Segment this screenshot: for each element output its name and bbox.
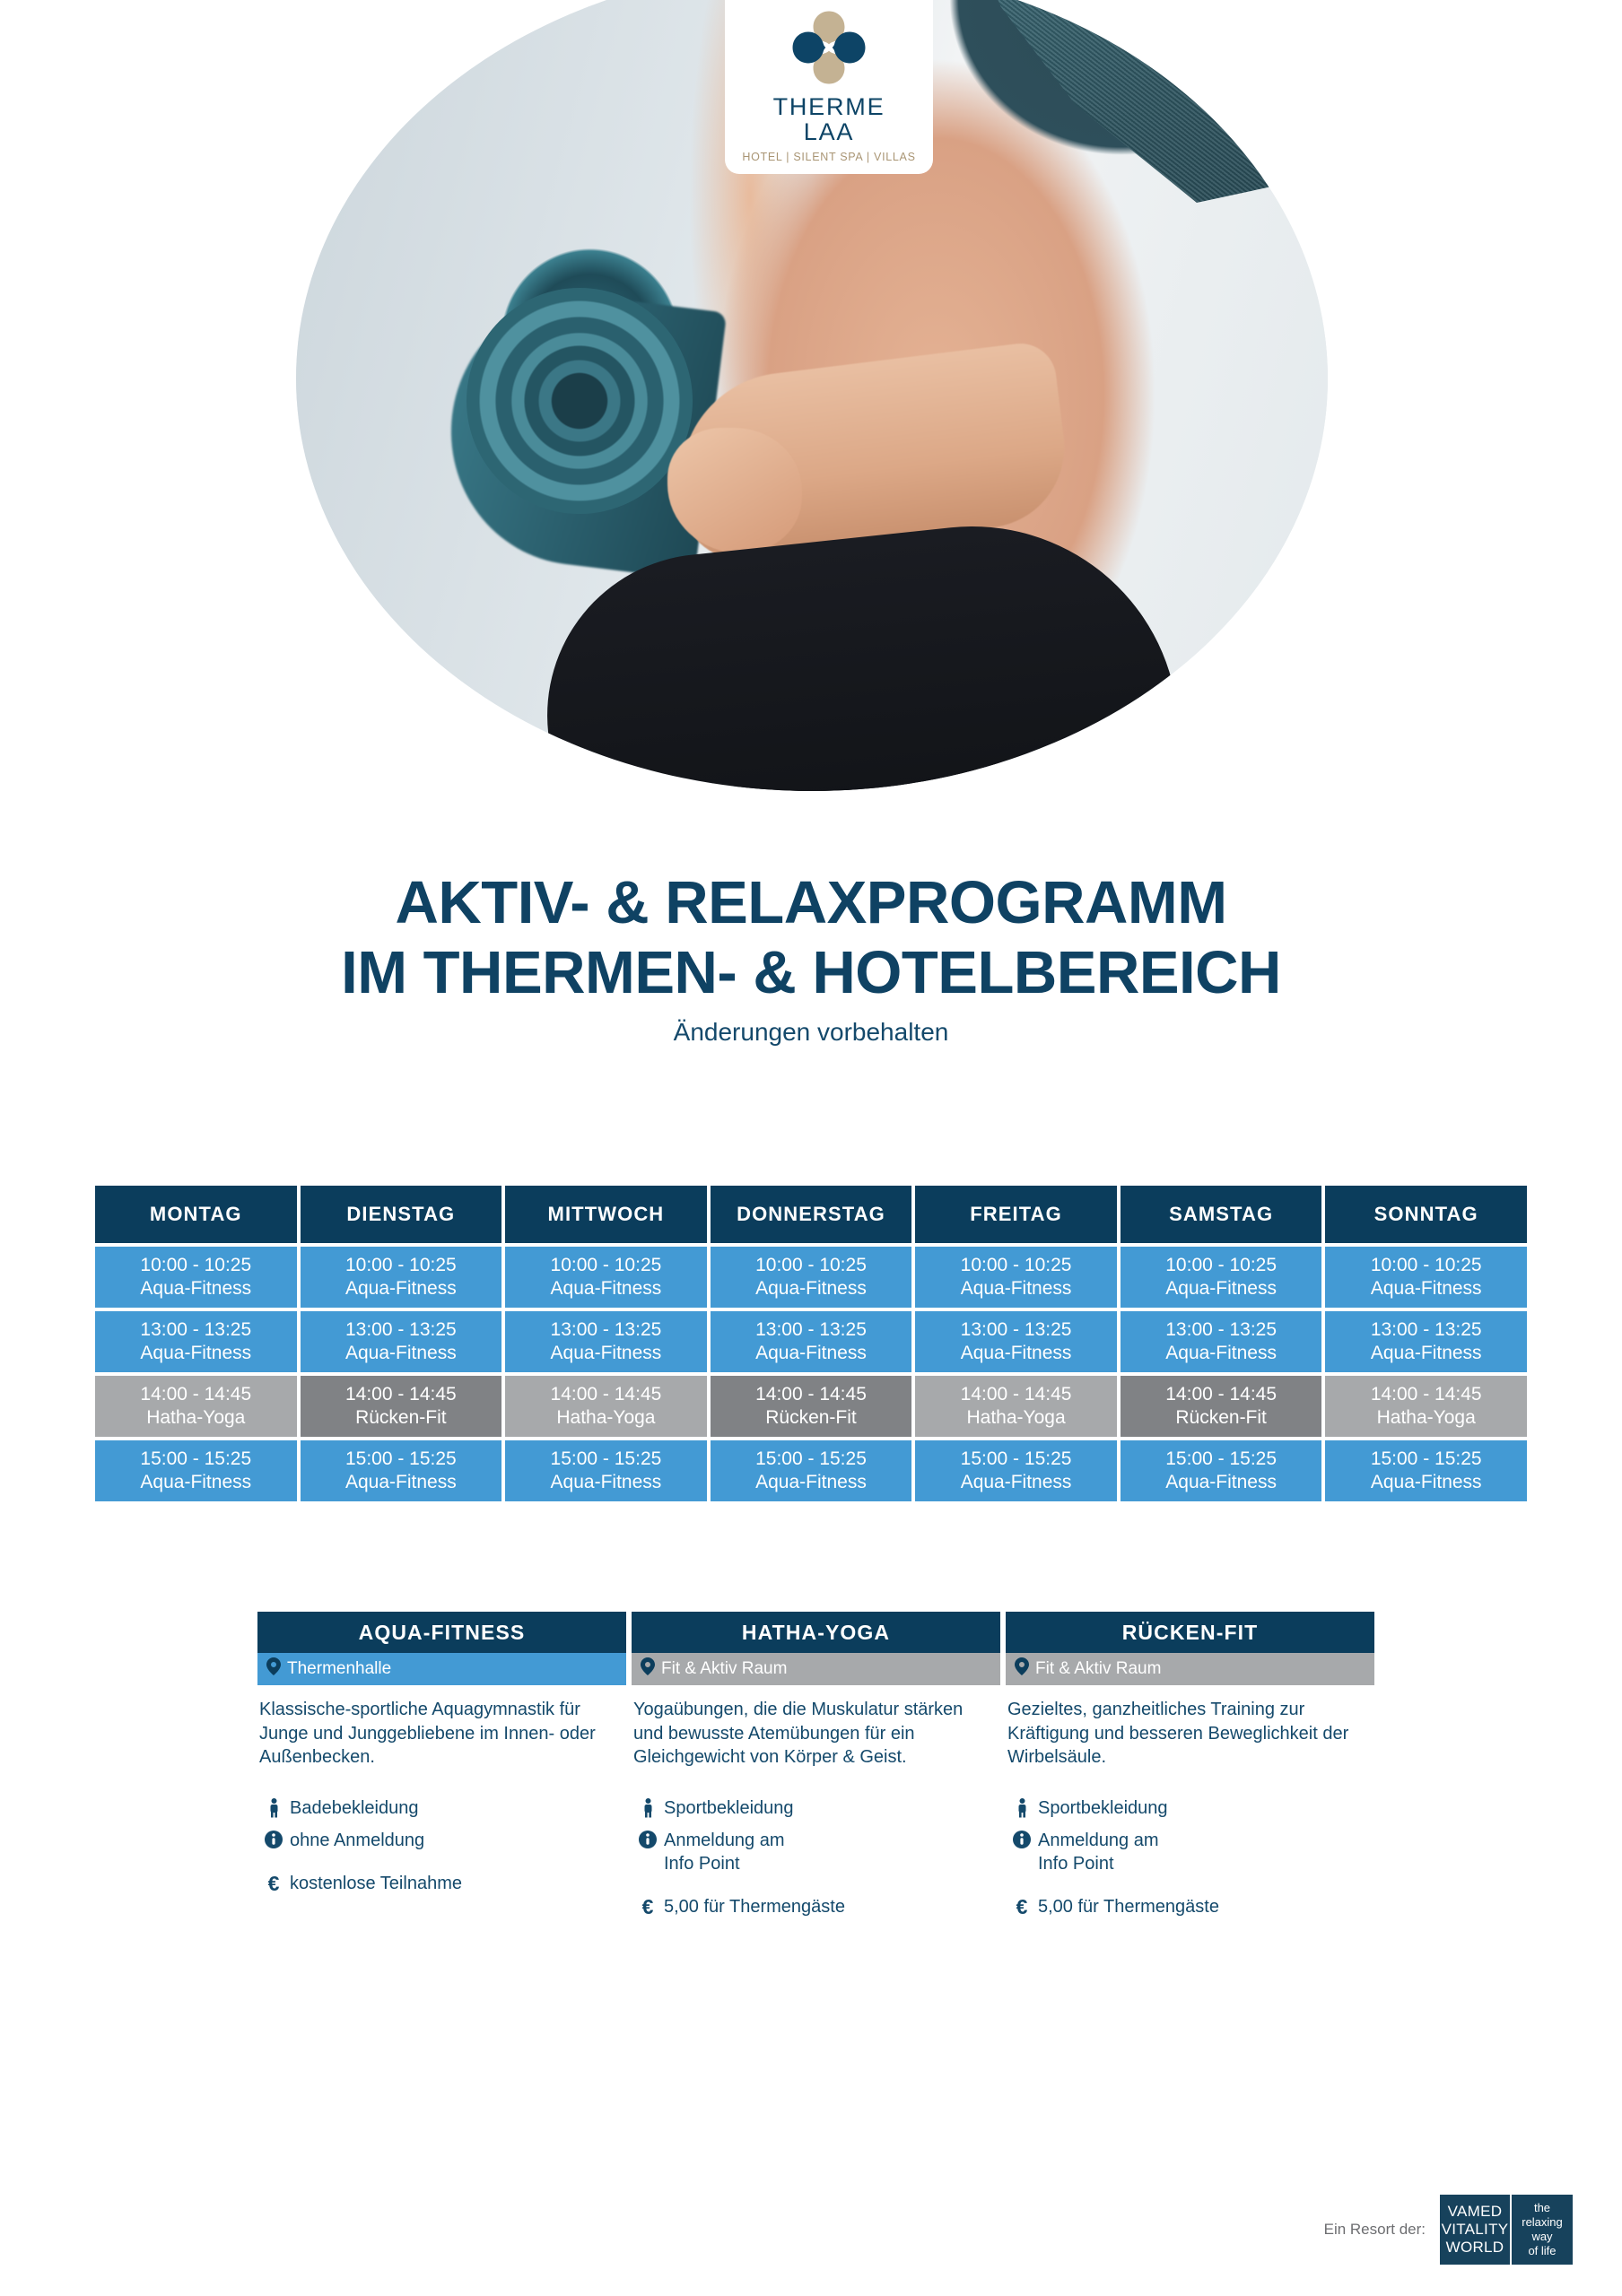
schedule-cell-activity: Aqua-Fitness xyxy=(1165,1342,1277,1365)
schedule-cell-activity: Rücken-Fit xyxy=(1175,1406,1267,1430)
person-clothing-icon xyxy=(1013,1796,1031,1818)
map-pin-icon xyxy=(266,1657,281,1681)
schedule-cell-time: 14:00 - 14:45 xyxy=(1371,1383,1482,1406)
schedule-cell: 13:00 - 13:25Aqua-Fitness xyxy=(1325,1311,1527,1372)
schedule-cell-activity: Hatha-Yoga xyxy=(1377,1406,1476,1430)
activity-card-location-label: Thermenhalle xyxy=(287,1659,391,1679)
activity-info-cards: AQUA-FITNESSThermenhalleKlassische-sport… xyxy=(257,1612,1374,1927)
schedule-cell-activity: Aqua-Fitness xyxy=(140,1277,251,1300)
schedule-cell: 15:00 - 15:25Aqua-Fitness xyxy=(1325,1440,1527,1501)
schedule-cell: 13:00 - 13:25Aqua-Fitness xyxy=(301,1311,502,1372)
activity-card-price: €5,00 für Thermengäste xyxy=(1007,1895,1365,1918)
schedule-cell-activity: Aqua-Fitness xyxy=(961,1342,1072,1365)
tagline-line-2: relaxing xyxy=(1522,2215,1563,2230)
footer-prefix-text: Ein Resort der: xyxy=(1324,2221,1426,2239)
logo-wordmark-line2: LAA xyxy=(804,119,854,144)
vamed-logo-box: VAMED VITALITY WORLD xyxy=(1440,2195,1510,2265)
schedule-cell-activity: Aqua-Fitness xyxy=(345,1277,457,1300)
activity-card-price-label: 5,00 für Thermengäste xyxy=(664,1895,845,1918)
tagline-line-3: way xyxy=(1531,2230,1552,2244)
schedule-cell-activity: Aqua-Fitness xyxy=(140,1342,251,1365)
schedule-cell: 15:00 - 15:25Aqua-Fitness xyxy=(95,1440,297,1501)
schedule-day-header: DIENSTAG xyxy=(301,1186,502,1243)
schedule-cell: 10:00 - 10:25Aqua-Fitness xyxy=(1121,1247,1322,1308)
schedule-cell-time: 13:00 - 13:25 xyxy=(1371,1318,1482,1342)
activity-card-feature: Sportbekleidung xyxy=(1007,1796,1365,1820)
activity-card-price-label: 5,00 für Thermengäste xyxy=(1038,1895,1219,1918)
schedule-cell-activity: Aqua-Fitness xyxy=(345,1342,457,1365)
schedule-cell-time: 13:00 - 13:25 xyxy=(140,1318,251,1342)
page-subtitle: Änderungen vorbehalten xyxy=(0,1018,1622,1047)
schedule-cell-activity: Aqua-Fitness xyxy=(961,1277,1072,1300)
activity-card-body: Gezieltes, ganzheitliches Training zur K… xyxy=(1006,1685,1374,1918)
euro-icon: € xyxy=(639,1895,657,1918)
activity-card: HATHA-YOGAFit & Aktiv RaumYogaübungen, d… xyxy=(632,1612,1000,1927)
activity-card-feature: Anmeldung am Info Point xyxy=(633,1829,991,1875)
schedule-cell: 15:00 - 15:25Aqua-Fitness xyxy=(1121,1440,1322,1501)
map-pin-icon xyxy=(1015,1657,1029,1681)
activity-card-title: HATHA-YOGA xyxy=(632,1612,1000,1653)
schedule-cell: 14:00 - 14:45Hatha-Yoga xyxy=(95,1376,297,1437)
schedule-cell: 10:00 - 10:25Aqua-Fitness xyxy=(915,1247,1117,1308)
schedule-cell: 15:00 - 15:25Aqua-Fitness xyxy=(301,1440,502,1501)
schedule-cell-time: 13:00 - 13:25 xyxy=(961,1318,1072,1342)
schedule-cell-activity: Rücken-Fit xyxy=(355,1406,447,1430)
activity-card-body: Yogaübungen, die die Muskulatur stärken … xyxy=(632,1685,1000,1918)
person-clothing-icon xyxy=(265,1796,283,1818)
schedule-cell: 13:00 - 13:25Aqua-Fitness xyxy=(95,1311,297,1372)
schedule-cell: 10:00 - 10:25Aqua-Fitness xyxy=(95,1247,297,1308)
footer: Ein Resort der: VAMED VITALITY WORLD the… xyxy=(1324,2195,1573,2265)
activity-card-price: €kostenlose Teilnahme xyxy=(259,1872,617,1895)
activity-card-location-label: Fit & Aktiv Raum xyxy=(661,1659,787,1679)
schedule-cell-activity: Aqua-Fitness xyxy=(1371,1342,1482,1365)
activity-card-location: Fit & Aktiv Raum xyxy=(1006,1653,1374,1685)
activity-card-title: AQUA-FITNESS xyxy=(257,1612,626,1653)
schedule-cell-activity: Aqua-Fitness xyxy=(1371,1277,1482,1300)
schedule-day-header: SONNTAG xyxy=(1325,1186,1527,1243)
activity-card-body: Klassische-sportliche Aquagymnastik für … xyxy=(257,1685,626,1895)
schedule-cell: 14:00 - 14:45Rücken-Fit xyxy=(711,1376,912,1437)
schedule-day-header: FREITAG xyxy=(915,1186,1117,1243)
vamed-line-2: VITALITY xyxy=(1442,2221,1509,2239)
schedule-day-header: SAMSTAG xyxy=(1121,1186,1322,1243)
schedule-cell-time: 14:00 - 14:45 xyxy=(961,1383,1072,1406)
info-icon xyxy=(265,1829,283,1848)
schedule-cell: 13:00 - 13:25Aqua-Fitness xyxy=(505,1311,707,1372)
activity-card-feature: ohne Anmeldung xyxy=(259,1829,617,1852)
activity-card-description: Klassische-sportliche Aquagymnastik für … xyxy=(259,1698,609,1770)
schedule-cell-time: 15:00 - 15:25 xyxy=(755,1448,867,1471)
schedule-cell-activity: Aqua-Fitness xyxy=(1371,1471,1482,1494)
yoga-mat-roll xyxy=(467,288,693,514)
schedule-cell-time: 10:00 - 10:25 xyxy=(1371,1254,1482,1277)
schedule-cell-time: 14:00 - 14:45 xyxy=(140,1383,251,1406)
schedule-cell-time: 13:00 - 13:25 xyxy=(755,1318,867,1342)
schedule-cell-time: 10:00 - 10:25 xyxy=(1165,1254,1277,1277)
schedule-cell-time: 10:00 - 10:25 xyxy=(345,1254,457,1277)
schedule-cell: 13:00 - 13:25Aqua-Fitness xyxy=(711,1311,912,1372)
vamed-line-1: VAMED xyxy=(1448,2203,1503,2221)
schedule-cell-activity: Rücken-Fit xyxy=(765,1406,857,1430)
tagline-line-1: the xyxy=(1534,2201,1550,2215)
therme-laa-clover-logo-icon xyxy=(788,6,870,89)
info-icon xyxy=(1013,1829,1031,1848)
activity-card: AQUA-FITNESSThermenhalleKlassische-sport… xyxy=(257,1612,626,1927)
activity-card-feature-label: Anmeldung am Info Point xyxy=(1038,1829,1159,1875)
schedule-cell-activity: Aqua-Fitness xyxy=(551,1277,662,1300)
activity-card-price-label: kostenlose Teilnahme xyxy=(290,1872,462,1895)
schedule-cell-activity: Hatha-Yoga xyxy=(556,1406,655,1430)
schedule-cell-activity: Aqua-Fitness xyxy=(345,1471,457,1494)
schedule-cell-time: 10:00 - 10:25 xyxy=(755,1254,867,1277)
schedule-cell-activity: Aqua-Fitness xyxy=(140,1471,251,1494)
schedule-cell: 10:00 - 10:25Aqua-Fitness xyxy=(301,1247,502,1308)
logo-subline: HOTEL | SILENT SPA | VILLAS xyxy=(742,151,915,163)
activity-card-feature: Badebekleidung xyxy=(259,1796,617,1820)
schedule-cell-time: 15:00 - 15:25 xyxy=(345,1448,457,1471)
activity-card-location: Thermenhalle xyxy=(257,1653,626,1685)
activity-card-feature: Sportbekleidung xyxy=(633,1796,991,1820)
schedule-cell: 10:00 - 10:25Aqua-Fitness xyxy=(1325,1247,1527,1308)
schedule-cell-time: 13:00 - 13:25 xyxy=(551,1318,662,1342)
activity-card-feature-label: Sportbekleidung xyxy=(1038,1796,1168,1820)
schedule-cell-time: 15:00 - 15:25 xyxy=(140,1448,251,1471)
schedule-day-header: MITTWOCH xyxy=(505,1186,707,1243)
schedule-cell: 10:00 - 10:25Aqua-Fitness xyxy=(505,1247,707,1308)
person-clothing-icon xyxy=(639,1796,657,1818)
map-pin-icon xyxy=(641,1657,655,1681)
activity-card-price: €5,00 für Thermengäste xyxy=(633,1895,991,1918)
activity-card-description: Gezieltes, ganzheitliches Training zur K… xyxy=(1007,1698,1357,1770)
schedule-day-header: MONTAG xyxy=(95,1186,297,1243)
schedule-cell-time: 15:00 - 15:25 xyxy=(1371,1448,1482,1471)
activity-card-feature-label: Anmeldung am Info Point xyxy=(664,1829,785,1875)
vamed-vitality-world-logo: VAMED VITALITY WORLD the relaxing way of… xyxy=(1440,2195,1573,2265)
schedule-cell-time: 14:00 - 14:45 xyxy=(1165,1383,1277,1406)
schedule-cell-activity: Aqua-Fitness xyxy=(551,1471,662,1494)
schedule-cell-time: 14:00 - 14:45 xyxy=(551,1383,662,1406)
activity-card-location-label: Fit & Aktiv Raum xyxy=(1035,1659,1161,1679)
schedule-cell: 15:00 - 15:25Aqua-Fitness xyxy=(915,1440,1117,1501)
schedule-cell-activity: Hatha-Yoga xyxy=(146,1406,245,1430)
schedule-cell: 15:00 - 15:25Aqua-Fitness xyxy=(505,1440,707,1501)
page-title-line-2: IM THERMEN- & HOTELBEREICH xyxy=(0,938,1622,1008)
schedule-cell: 13:00 - 13:25Aqua-Fitness xyxy=(1121,1311,1322,1372)
euro-icon: € xyxy=(265,1872,283,1894)
euro-icon: € xyxy=(1013,1895,1031,1918)
activity-card-feature: Anmeldung am Info Point xyxy=(1007,1829,1365,1875)
activity-card-feature-label: Sportbekleidung xyxy=(664,1796,794,1820)
schedule-cell-time: 15:00 - 15:25 xyxy=(961,1448,1072,1471)
weekly-schedule-table: MONTAGDIENSTAGMITTWOCHDONNERSTAGFREITAGS… xyxy=(95,1186,1527,1501)
tagline-line-4: of life xyxy=(1528,2244,1556,2258)
schedule-cell-activity: Aqua-Fitness xyxy=(961,1471,1072,1494)
page-title-line-1: AKTIV- & RELAXPROGRAMM xyxy=(0,868,1622,938)
schedule-cell: 10:00 - 10:25Aqua-Fitness xyxy=(711,1247,912,1308)
schedule-cell-time: 10:00 - 10:25 xyxy=(140,1254,251,1277)
schedule-cell: 14:00 - 14:45Rücken-Fit xyxy=(301,1376,502,1437)
schedule-cell-time: 10:00 - 10:25 xyxy=(551,1254,662,1277)
schedule-cell-time: 13:00 - 13:25 xyxy=(345,1318,457,1342)
schedule-cell-activity: Aqua-Fitness xyxy=(755,1471,867,1494)
info-icon xyxy=(639,1829,657,1848)
vamed-tagline-box: the relaxing way of life xyxy=(1512,2195,1573,2265)
schedule-cell: 14:00 - 14:45Rücken-Fit xyxy=(1121,1376,1322,1437)
activity-card-description: Yogaübungen, die die Muskulatur stärken … xyxy=(633,1698,983,1770)
vamed-line-3: WORLD xyxy=(1446,2239,1504,2257)
schedule-day-header: DONNERSTAG xyxy=(711,1186,912,1243)
schedule-cell-activity: Aqua-Fitness xyxy=(1165,1471,1277,1494)
activity-card-feature-label: ohne Anmeldung xyxy=(290,1829,424,1852)
logo-wordmark-line1: THERME xyxy=(773,94,885,119)
therme-laa-logo-badge: THERME LAA HOTEL | SILENT SPA | VILLAS xyxy=(725,0,933,174)
activity-card-title: RÜCKEN-FIT xyxy=(1006,1612,1374,1653)
page-title-block: AKTIV- & RELAXPROGRAMM IM THERMEN- & HOT… xyxy=(0,868,1622,1047)
activity-card: RÜCKEN-FITFit & Aktiv RaumGezieltes, gan… xyxy=(1006,1612,1374,1927)
schedule-cell-time: 14:00 - 14:45 xyxy=(345,1383,457,1406)
schedule-cell-time: 13:00 - 13:25 xyxy=(1165,1318,1277,1342)
activity-card-location: Fit & Aktiv Raum xyxy=(632,1653,1000,1685)
schedule-cell: 14:00 - 14:45Hatha-Yoga xyxy=(505,1376,707,1437)
schedule-cell-time: 14:00 - 14:45 xyxy=(755,1383,867,1406)
schedule-cell: 15:00 - 15:25Aqua-Fitness xyxy=(711,1440,912,1501)
schedule-cell-activity: Hatha-Yoga xyxy=(966,1406,1065,1430)
schedule-cell-time: 15:00 - 15:25 xyxy=(1165,1448,1277,1471)
activity-card-feature-label: Badebekleidung xyxy=(290,1796,418,1820)
schedule-cell: 14:00 - 14:45Hatha-Yoga xyxy=(915,1376,1117,1437)
schedule-cell-activity: Aqua-Fitness xyxy=(1165,1277,1277,1300)
schedule-cell-time: 10:00 - 10:25 xyxy=(961,1254,1072,1277)
poster-page: THERME LAA HOTEL | SILENT SPA | VILLAS A… xyxy=(0,0,1622,2296)
schedule-cell-activity: Aqua-Fitness xyxy=(551,1342,662,1365)
schedule-cell-activity: Aqua-Fitness xyxy=(755,1342,867,1365)
schedule-cell-activity: Aqua-Fitness xyxy=(755,1277,867,1300)
schedule-cell: 14:00 - 14:45Hatha-Yoga xyxy=(1325,1376,1527,1437)
schedule-cell: 13:00 - 13:25Aqua-Fitness xyxy=(915,1311,1117,1372)
schedule-cell-time: 15:00 - 15:25 xyxy=(551,1448,662,1471)
